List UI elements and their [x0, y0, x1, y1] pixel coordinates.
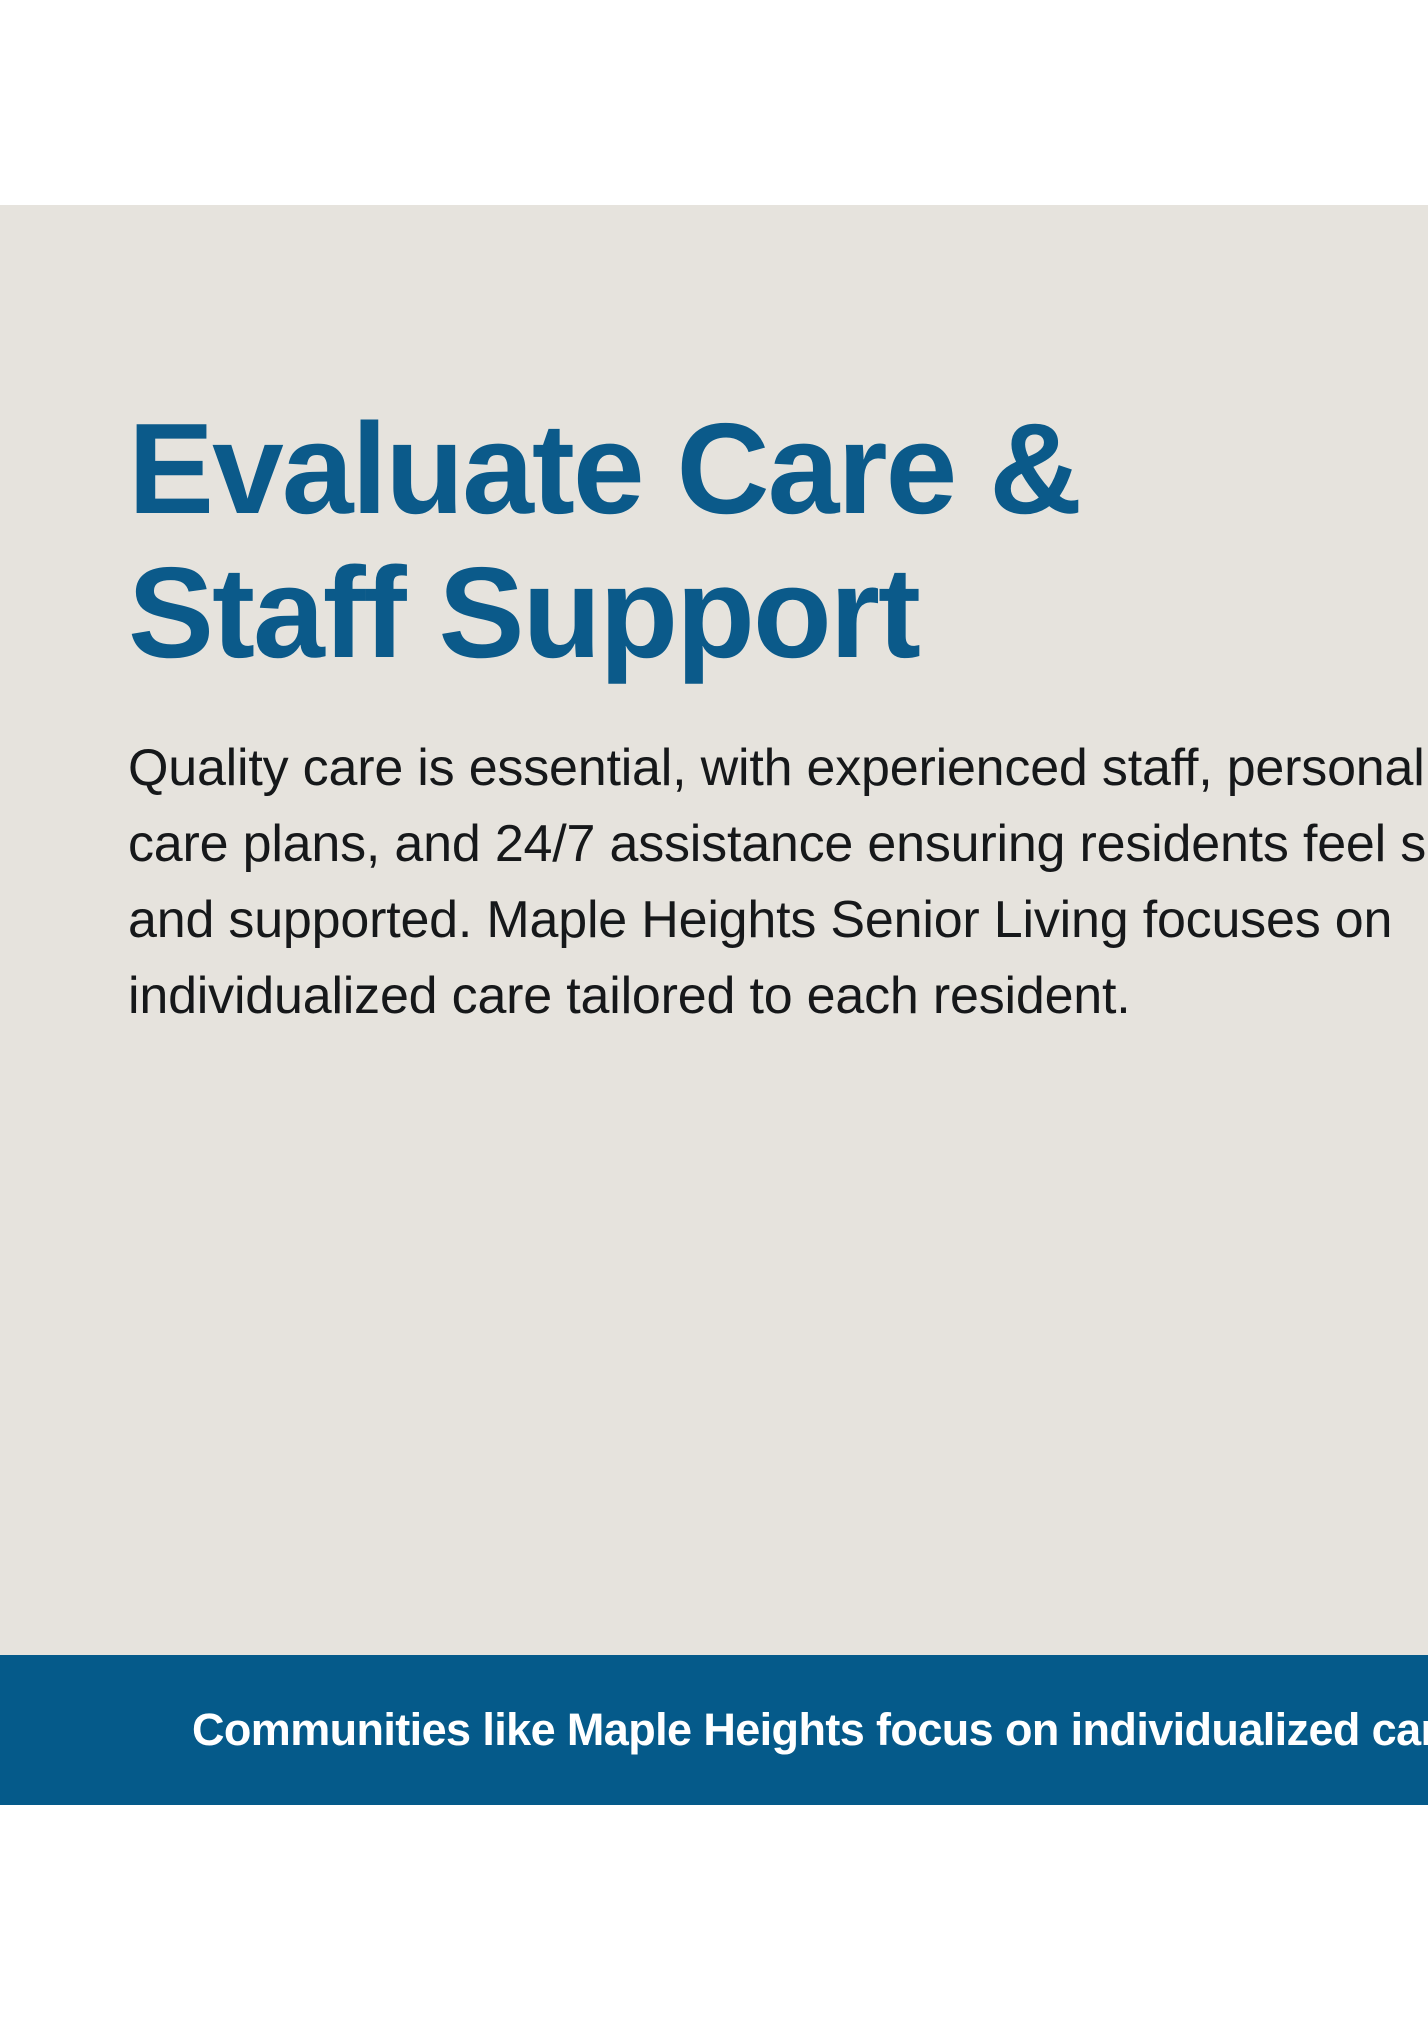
content-panel: Evaluate Care & Staff Support Quality ca…: [0, 205, 1428, 1655]
body-paragraph: Quality care is essential, with experien…: [128, 730, 1428, 1034]
caption-banner: Communities like Maple Heights focus on …: [0, 1655, 1428, 1805]
content-panel-inner: Evaluate Care & Staff Support Quality ca…: [128, 205, 1428, 1655]
page-title-line-2: Staff Support: [128, 541, 1128, 685]
page-title: Evaluate Care & Staff Support: [128, 397, 1128, 686]
slide-canvas: Evaluate Care & Staff Support Quality ca…: [0, 0, 1428, 2018]
page-title-line-1: Evaluate Care &: [128, 397, 1128, 541]
bottom-white-margin: [0, 1805, 1428, 2018]
top-white-margin: [0, 0, 1428, 205]
caption-banner-text: Communities like Maple Heights focus on …: [192, 1655, 1428, 1805]
